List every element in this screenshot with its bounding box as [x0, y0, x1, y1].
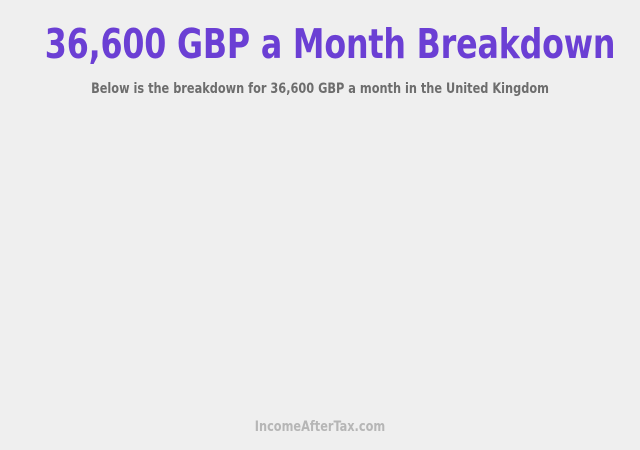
page-subtitle: Below is the breakdown for 36,600 GBP a … [32, 67, 608, 97]
site-credit: IncomeAfterTax.com [32, 419, 608, 435]
chart-region [0, 97, 640, 419]
chart-canvas [0, 97, 640, 419]
page-header: 36,600 GBP a Month Breakdown Below is th… [0, 0, 640, 97]
page-footer: IncomeAfterTax.com [0, 419, 640, 450]
page-title: 36,600 GBP a Month Breakdown [45, 21, 595, 67]
infographic-page: 36,600 GBP a Month Breakdown Below is th… [0, 0, 640, 450]
